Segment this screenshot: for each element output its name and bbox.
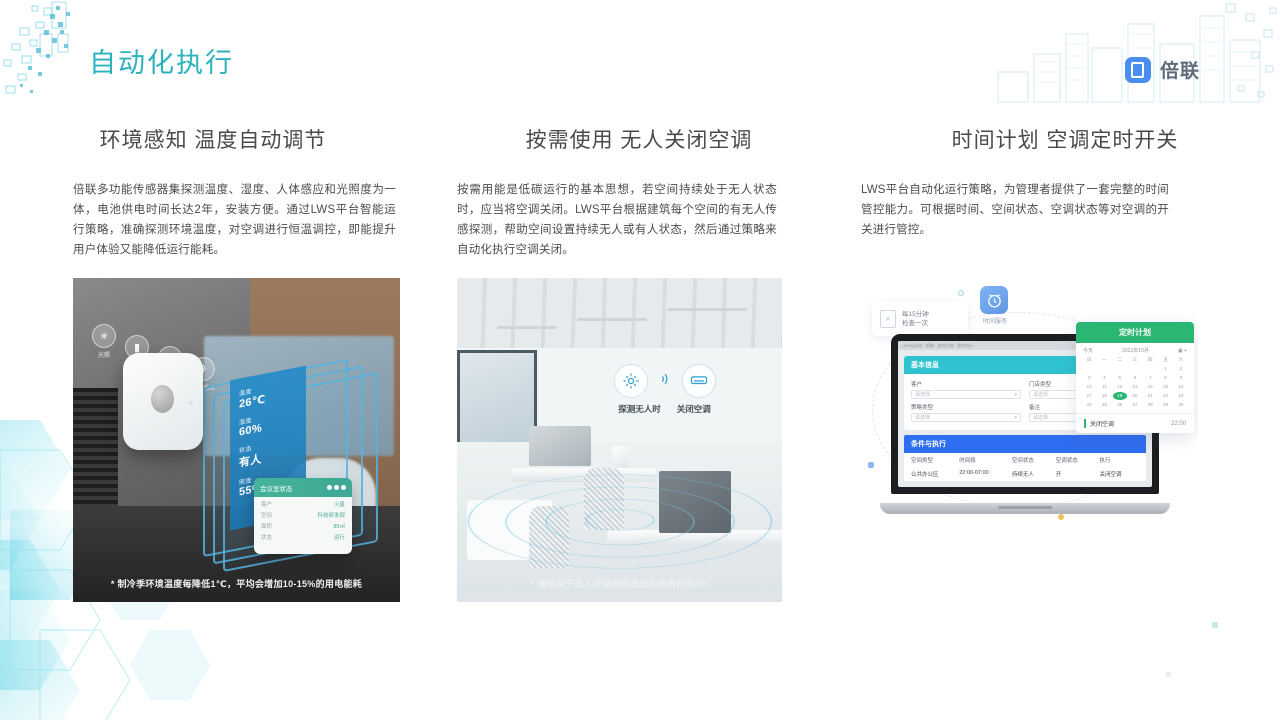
sensor-led-icon	[189, 401, 193, 405]
calendar-weekday: 日	[1082, 356, 1096, 364]
table-row: 面积 85㎡	[254, 519, 352, 530]
feature-column-2: 按需使用 无人关闭空调 按需用能是低碳运行的基本思想，若空间持续处于无人状态时，…	[426, 110, 852, 620]
calendar-day[interactable]: 15	[1158, 383, 1172, 391]
calendar-day[interactable]: 23	[1174, 392, 1188, 400]
calendar-day[interactable]: 8	[1158, 374, 1172, 382]
table-row: 客户 火星	[254, 497, 352, 508]
table-row: 公共办公区 22:00-07:00 持续无人 开 关闭空调	[904, 467, 1146, 481]
presence-sensor-icon	[614, 364, 648, 398]
card-dots-icon	[327, 485, 346, 490]
schedule-item[interactable]: 关闭空调 22:00	[1076, 413, 1194, 433]
calendar-weekday: 三	[1128, 356, 1142, 364]
schedule-card: 定时计划 今天 2021年10月 ▣ + 日一二三四五六123456789101…	[1076, 322, 1194, 433]
room-status-card-header: 会议室状态	[254, 478, 352, 497]
calendar-day[interactable]: 22	[1158, 392, 1172, 400]
column-2-heading: 按需使用 无人关闭空调	[426, 124, 852, 154]
figure-2-caption: * 通常由于无人关空调而造成的浪费约为5%	[457, 577, 782, 590]
clock-icon	[980, 286, 1008, 314]
calendar-day[interactable]: 24	[1082, 401, 1096, 409]
column-2-body: 按需用能是低碳运行的基本思想，若空间持续处于无人状态时，应当将空调关闭。LWS平…	[457, 180, 777, 260]
form-field-customer[interactable]: 客户 请选择▾	[911, 380, 1021, 399]
air-conditioner-icon	[682, 364, 716, 398]
calendar-day[interactable]: 11	[1097, 383, 1111, 391]
calendar-day[interactable]: 7	[1143, 374, 1157, 382]
square-logo-icon	[1125, 57, 1151, 83]
feature-column-1: 环境感知 温度自动调节 倍联多功能传感器集探测温度、湿度、人体感应和光照度为一体…	[0, 110, 426, 620]
calendar-day[interactable]: 4	[1097, 374, 1111, 382]
calendar-day[interactable]: 10	[1082, 383, 1096, 391]
laptop-notch	[998, 506, 1052, 509]
feature-column-3: 时间计划 空调定时开关 LWS平台自动化运行策略，为管理者提供了一套完整的时间管…	[852, 110, 1278, 620]
calendar-day[interactable]: 9	[1174, 374, 1188, 382]
sensor-lens-icon	[151, 385, 174, 413]
calendar-header: 今天 2021年10月 ▣ +	[1076, 343, 1194, 356]
chevron-down-icon: ▾	[1014, 392, 1017, 398]
document-search-icon: ⌕	[880, 310, 896, 328]
detection-callout: 探测无人时 关闭空调	[572, 364, 757, 415]
calendar-weekday: 一	[1097, 356, 1111, 364]
calendar-day[interactable]: 21	[1143, 392, 1157, 400]
calendar-day[interactable]: 26	[1113, 401, 1127, 409]
column-3-body: LWS平台自动化运行策略，为管理者提供了一套完整的时间管控能力。可根据时间、空间…	[861, 180, 1169, 240]
calendar-day[interactable]: 13	[1128, 383, 1142, 391]
calendar-day	[1128, 365, 1142, 373]
calendar-day	[1097, 365, 1111, 373]
light-sensor-icon: ☀光照	[92, 324, 116, 348]
table-row: 空间 科技研发部	[254, 508, 352, 519]
figure-1-caption: * 制冷季环境温度每降低1℃，平均会增加10-15%的用电能耗	[73, 577, 400, 590]
table-row: 状态 运行	[254, 530, 352, 541]
calendar-weekday: 五	[1158, 356, 1172, 364]
check-interval-badge: ⌕ 每15分钟 检查一次	[872, 302, 968, 336]
figure-time-schedule: ⌕ 每15分钟 检查一次 时间服务	[858, 278, 1198, 538]
customer-select[interactable]: 请选择▾	[911, 390, 1021, 399]
detect-label: 探测无人时	[618, 403, 661, 415]
page-title: 自动化执行	[89, 50, 234, 77]
readout-row: 温度 26℃	[239, 377, 297, 410]
action-label: 关闭空调	[677, 403, 711, 415]
room-status-card: 会议室状态 客户 火星 空间 科技研发部 面积 85㎡ 状态 运行	[254, 478, 352, 554]
calendar-day[interactable]: 19	[1113, 392, 1127, 400]
calendar-grid[interactable]: 日一二三四五六123456789101112131415161718192021…	[1076, 356, 1194, 413]
calendar-day[interactable]: 12	[1113, 383, 1127, 391]
calendar-day[interactable]: 5	[1113, 374, 1127, 382]
calendar-day[interactable]: 16	[1174, 383, 1188, 391]
calendar-day[interactable]: 30	[1174, 401, 1188, 409]
calendar-weekday: 六	[1174, 356, 1188, 364]
badge-line-2: 检查一次	[902, 319, 929, 328]
readout-row: 状态 有人	[239, 434, 297, 470]
multifunction-sensor-device	[123, 353, 203, 450]
figure-occupancy-office: 探测无人时 关闭空调 * 通常由于无人关空调而造成的浪费约为5%	[457, 278, 782, 602]
form-field-strategy-type[interactable]: 策略类型 请选择▾	[911, 403, 1021, 422]
calendar-weekday: 二	[1113, 356, 1127, 364]
figure-environment-sensor: ☀光照 ▮温度 ◍湿度 ⚘人体感应 温度 26℃	[73, 278, 400, 602]
signal-wave-icon	[657, 371, 673, 392]
calendar-day[interactable]: 1	[1158, 365, 1172, 373]
calendar-day	[1113, 365, 1127, 373]
calendar-today-label[interactable]: 今天	[1083, 347, 1093, 354]
brand-name: 倍联	[1160, 56, 1200, 83]
clock-label: 时间服务	[970, 316, 1020, 325]
signal-wave-ring	[585, 509, 655, 531]
badge-line-1: 每15分钟	[902, 310, 929, 319]
calendar-day[interactable]: 28	[1143, 401, 1157, 409]
calendar-day[interactable]: 3	[1082, 374, 1096, 382]
decorative-dot	[958, 290, 964, 296]
feature-columns: 环境感知 温度自动调节 倍联多功能传感器集探测温度、湿度、人体感应和光照度为一体…	[0, 110, 1280, 620]
calendar-weekday: 四	[1143, 356, 1157, 364]
table-header-row: 空间类型 时间段 空间状态 空调状态 执行	[904, 453, 1146, 467]
calendar-day[interactable]: 14	[1143, 383, 1157, 391]
calendar-day[interactable]: 6	[1128, 374, 1142, 382]
condition-execution-title: 条件与执行	[904, 435, 1146, 453]
calendar-day[interactable]: 17	[1082, 392, 1096, 400]
calendar-day[interactable]: 29	[1158, 401, 1172, 409]
column-1-heading: 环境感知 温度自动调节	[0, 124, 426, 154]
browser-tabs-text: LWS自动化 · 策略 · 定时计划 · 条件执行	[902, 343, 973, 349]
column-1-body: 倍联多功能传感器集探测温度、湿度、人体感应和光照度为一体，电池供电时间长达2年，…	[73, 180, 396, 260]
decorative-dot	[868, 462, 874, 468]
strategy-type-select[interactable]: 请选择▾	[911, 413, 1021, 422]
readout-row: 湿度 60%	[239, 406, 297, 438]
chevron-down-icon: ▾	[1014, 415, 1017, 421]
brand-logo: 倍联	[1125, 56, 1200, 83]
column-3-heading: 时间计划 空调定时开关	[852, 124, 1278, 154]
calendar-actions[interactable]: ▣ +	[1178, 348, 1187, 354]
calendar-day[interactable]: 27	[1128, 401, 1142, 409]
ceiling-sensor-device	[612, 446, 627, 468]
calendar-day[interactable]: 20	[1128, 392, 1142, 400]
calendar-day[interactable]: 25	[1097, 401, 1111, 409]
calendar-month-label: 2021年10月	[1122, 347, 1149, 354]
decorative-dot	[1058, 514, 1064, 520]
schedule-card-title: 定时计划	[1076, 322, 1194, 343]
calendar-day	[1143, 365, 1157, 373]
calendar-day[interactable]: 18	[1097, 392, 1111, 400]
calendar-day[interactable]: 2	[1174, 365, 1188, 373]
calendar-day	[1082, 365, 1096, 373]
condition-execution-table: 条件与执行 空间类型 时间段 空间状态 空调状态 执行 公共办公区	[904, 435, 1146, 481]
page-header: 自动化执行 倍联	[0, 0, 1280, 110]
